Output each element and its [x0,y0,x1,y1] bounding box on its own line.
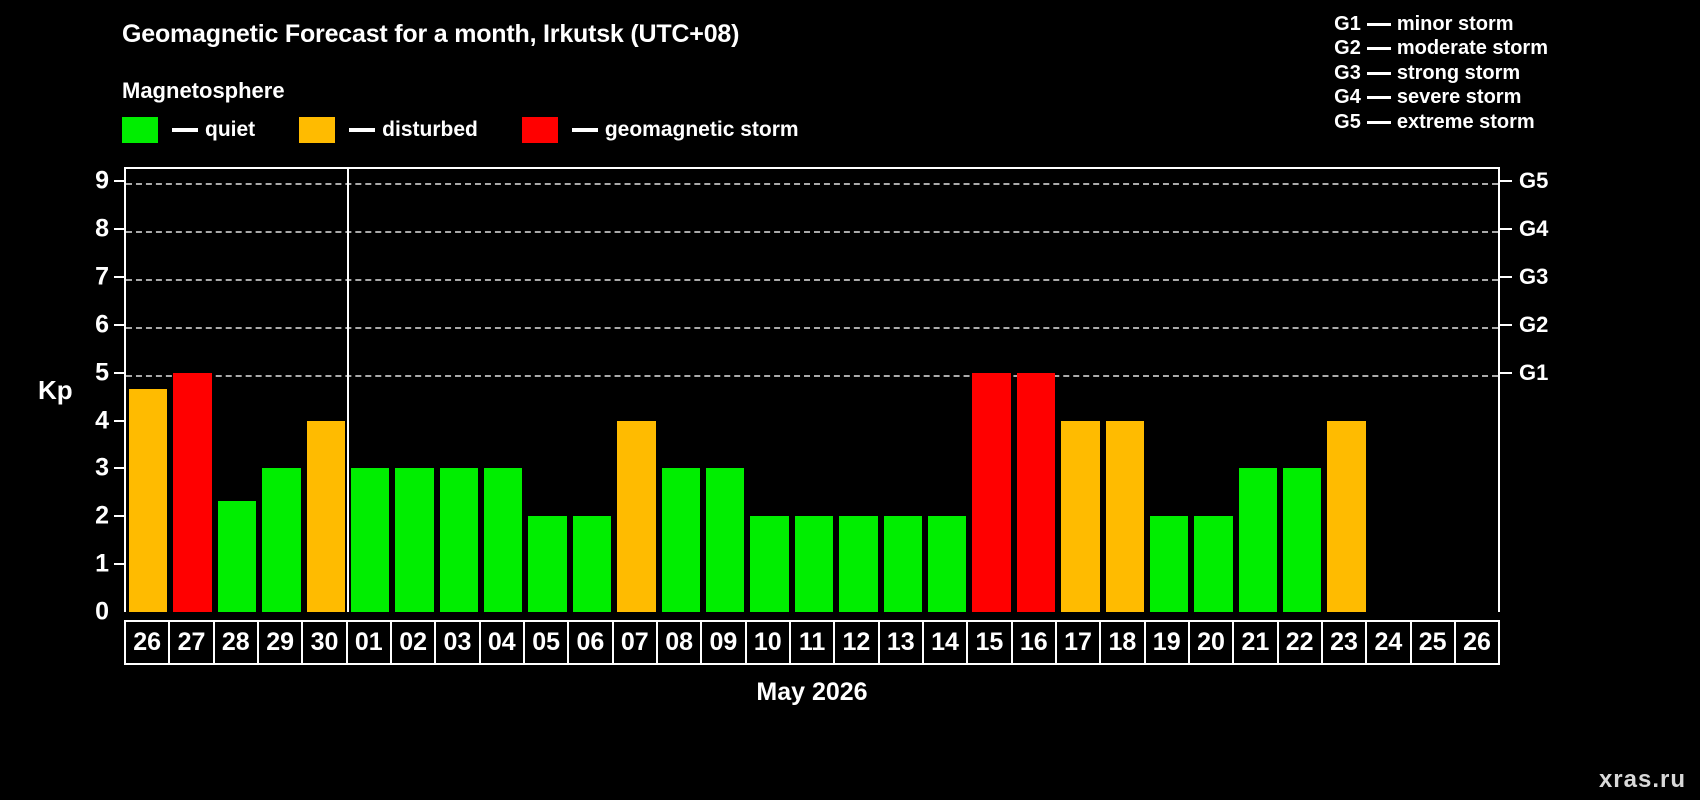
bar-day-06[interactable] [573,516,611,612]
y-tick-label-1: 1 [69,550,109,579]
legend-item-disturbed: disturbed [299,117,478,143]
day-label-10[interactable]: 06 [569,622,613,663]
day-label-17[interactable]: 13 [880,622,924,663]
day-label-18[interactable]: 14 [924,622,968,663]
g-scale-dash-icon [1367,96,1391,99]
bar-day-08[interactable] [662,468,700,612]
legend-swatch-storm [522,117,558,143]
g-scale-dash-icon [1367,121,1391,124]
legend-dash-icon [572,128,598,132]
day-label-16[interactable]: 12 [835,622,879,663]
day-label-3[interactable]: 29 [259,622,303,663]
legend-label-disturbed: disturbed [382,118,478,142]
legend-item-storm: geomagnetic storm [522,117,799,143]
bar-day-12[interactable] [839,516,877,612]
magnetosphere-legend: Magnetosphere quiet disturbed geomagneti… [122,78,799,143]
y-tick-label-0: 0 [69,598,109,627]
y-axis-title: Kp [38,375,73,406]
g-axis-tick-mark [1500,372,1512,374]
y-tick-label-5: 5 [69,358,109,387]
plot-inner [126,169,1498,612]
bar-day-14[interactable] [928,516,966,612]
g-axis-label-g1: G1 [1519,360,1548,386]
day-label-4[interactable]: 30 [303,622,347,663]
bar-day-21[interactable] [1239,468,1277,612]
g-axis-label-g3: G3 [1519,264,1548,290]
g-scale-dash-icon [1367,72,1391,75]
bar-day-13[interactable] [884,516,922,612]
day-label-27[interactable]: 23 [1323,622,1367,663]
legend-swatch-quiet [122,117,158,143]
g-scale-description: severe storm [1397,86,1522,109]
g-scale-row-g2: G2moderate storm [1334,37,1548,62]
day-label-29[interactable]: 25 [1412,622,1456,663]
g-axis-tick-mark [1500,228,1512,230]
g-axis-label-g5: G5 [1519,168,1548,194]
g-axis-tick-mark [1500,180,1512,182]
legend-label-storm: geomagnetic storm [605,118,799,142]
watermark: xras.ru [1599,766,1686,794]
bar-day-10[interactable] [750,516,788,612]
g-scale-description: strong storm [1397,62,1520,85]
day-label-9[interactable]: 05 [525,622,569,663]
g-scale-code: G4 [1334,86,1361,109]
bar-day-18[interactable] [1106,421,1144,612]
day-label-20[interactable]: 16 [1013,622,1057,663]
y-tick-label-2: 2 [69,502,109,531]
gridline-kp-6 [126,327,1498,329]
y-tick-label-4: 4 [69,406,109,435]
bar-day-04[interactable] [484,468,522,612]
page-title: Geomagnetic Forecast for a month, Irkuts… [122,20,739,49]
g-axis-label-g4: G4 [1519,216,1548,242]
bar-day-05[interactable] [528,516,566,612]
day-label-22[interactable]: 18 [1101,622,1145,663]
g-scale-row-g4: G4severe storm [1334,86,1548,111]
g-axis-tick-mark [1500,276,1512,278]
day-label-21[interactable]: 17 [1057,622,1101,663]
y-tick-label-9: 9 [69,167,109,196]
legend-item-quiet: quiet [122,117,255,143]
bar-day-17[interactable] [1061,421,1099,612]
legend-label-quiet: quiet [205,118,255,142]
legend-dash-icon [349,128,375,132]
g-scale-code: G1 [1334,13,1361,36]
day-label-24[interactable]: 20 [1190,622,1234,663]
day-label-25[interactable]: 21 [1234,622,1278,663]
bar-day-01[interactable] [351,468,389,612]
day-label-8[interactable]: 04 [481,622,525,663]
month-divider [347,169,349,612]
g-scale-row-g5: G5extreme storm [1334,110,1548,135]
day-label-1[interactable]: 27 [170,622,214,663]
day-label-30[interactable]: 26 [1456,622,1498,663]
bar-day-22[interactable] [1283,468,1321,612]
bar-day-19[interactable] [1150,516,1188,612]
bar-day-15[interactable] [972,373,1010,612]
bar-day-11[interactable] [795,516,833,612]
bar-day-26[interactable] [129,389,167,612]
y-tick-label-8: 8 [69,215,109,244]
y-tick-label-6: 6 [69,310,109,339]
bar-day-02[interactable] [395,468,433,612]
g-scale-row-g3: G3strong storm [1334,61,1548,86]
gridline-kp-8 [126,231,1498,233]
bar-day-23[interactable] [1327,421,1365,612]
x-axis-title: May 2026 [124,678,1500,707]
day-label-23[interactable]: 19 [1146,622,1190,663]
bar-day-30[interactable] [307,421,345,612]
bar-day-03[interactable] [440,468,478,612]
bar-day-16[interactable] [1017,373,1055,612]
plot-area [124,167,1500,612]
day-label-19[interactable]: 15 [968,622,1012,663]
bar-day-20[interactable] [1194,516,1232,612]
bar-day-29[interactable] [262,468,300,612]
legend-heading: Magnetosphere [122,78,799,104]
day-label-12[interactable]: 08 [658,622,702,663]
g-scale-legend: G1minor stormG2moderate stormG3strong st… [1334,12,1548,135]
day-label-2[interactable]: 28 [215,622,259,663]
gridline-kp-7 [126,279,1498,281]
g-axis-tick-mark [1500,324,1512,326]
g-scale-description: extreme storm [1397,111,1535,134]
day-label-6[interactable]: 02 [392,622,436,663]
legend-items: quiet disturbed geomagnetic storm [122,117,799,143]
day-label-26[interactable]: 22 [1279,622,1323,663]
legend-dash-icon [172,128,198,132]
g-scale-description: minor storm [1397,13,1514,36]
bar-day-28[interactable] [218,501,256,612]
day-label-11[interactable]: 07 [614,622,658,663]
day-label-5[interactable]: 01 [348,622,392,663]
day-label-7[interactable]: 03 [436,622,480,663]
day-label-15[interactable]: 11 [791,622,835,663]
g-scale-dash-icon [1367,47,1391,50]
g-scale-row-g1: G1minor storm [1334,12,1548,37]
day-label-28[interactable]: 24 [1367,622,1411,663]
gridline-kp-5 [126,375,1498,377]
g-scale-description: moderate storm [1397,37,1548,60]
day-label-13[interactable]: 09 [702,622,746,663]
y-tick-label-7: 7 [69,263,109,292]
legend-swatch-disturbed [299,117,335,143]
y-tick-label-3: 3 [69,454,109,483]
day-label-0[interactable]: 26 [126,622,170,663]
x-axis-day-labels: 2627282930010203040506070809101112131415… [124,620,1500,665]
g-scale-code: G3 [1334,62,1361,85]
gridline-kp-9 [126,183,1498,185]
g-scale-dash-icon [1367,23,1391,26]
g-scale-code: G2 [1334,37,1361,60]
bar-day-27[interactable] [173,373,211,612]
day-label-14[interactable]: 10 [747,622,791,663]
g-axis-label-g2: G2 [1519,312,1548,338]
g-scale-code: G5 [1334,111,1361,134]
bar-day-09[interactable] [706,468,744,612]
bar-day-07[interactable] [617,421,655,612]
